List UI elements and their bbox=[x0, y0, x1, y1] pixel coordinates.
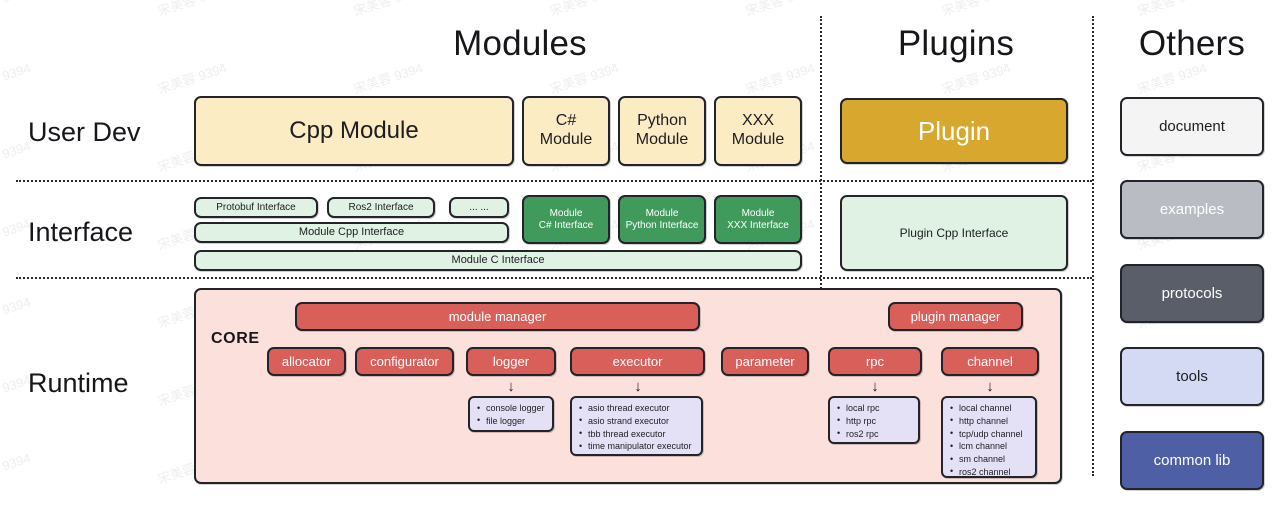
runtime-box-channel[interactable]: channel bbox=[941, 347, 1039, 376]
interface-box-module-csharp-interface[interactable]: Module C# Interface bbox=[522, 195, 610, 244]
others-box-document[interactable]: document bbox=[1120, 97, 1264, 156]
runtime-box-allocator[interactable]: allocator bbox=[267, 347, 346, 376]
plugin-box[interactable]: Plugin bbox=[840, 98, 1068, 164]
arrow-down-logger-icon: ↓ bbox=[504, 379, 518, 394]
runtime-sublist-logger: console loggerfile logger bbox=[468, 396, 554, 432]
interface-box-more-interface[interactable]: ... ... bbox=[449, 197, 509, 218]
executor-children-list: asio thread executorasio strand executor… bbox=[572, 398, 696, 457]
list-item: ros2 channel bbox=[959, 466, 1023, 479]
interface-box-ros2-interface[interactable]: Ros2 Interface bbox=[327, 197, 435, 218]
list-item: sm channel bbox=[959, 453, 1023, 466]
list-item: http channel bbox=[959, 415, 1023, 428]
runtime-box-module-manager[interactable]: module manager bbox=[295, 302, 700, 331]
module-box-python-module[interactable]: Python Module bbox=[618, 96, 706, 166]
rpc-children-list: local rpchttp rpcros2 rpc bbox=[830, 398, 884, 444]
interface-box-module-xxx-interface[interactable]: Module XXX Interface bbox=[714, 195, 802, 244]
list-item: tcp/udp channel bbox=[959, 428, 1023, 441]
list-item: console logger bbox=[486, 402, 545, 415]
interface-box-plugin-cpp-interface[interactable]: Plugin Cpp Interface bbox=[840, 195, 1068, 271]
watermark-text: 宋美蓉 9394 bbox=[351, 0, 425, 20]
channel-children-list: local channelhttp channeltcp/udp channel… bbox=[943, 398, 1027, 483]
row-label-runtime: Runtime bbox=[28, 368, 129, 399]
divider-interface-runtime bbox=[16, 277, 1092, 279]
interface-box-module-c-interface[interactable]: Module C Interface bbox=[194, 250, 802, 271]
core-label: CORE bbox=[211, 330, 260, 348]
list-item: tbb thread executor bbox=[588, 428, 692, 441]
runtime-sublist-executor: asio thread executorasio strand executor… bbox=[570, 396, 703, 456]
runtime-box-configurator[interactable]: configurator bbox=[355, 347, 454, 376]
others-box-protocols[interactable]: protocols bbox=[1120, 264, 1264, 323]
runtime-box-plugin-manager[interactable]: plugin manager bbox=[888, 302, 1023, 331]
watermark-text: 宋美蓉 9394 bbox=[547, 0, 621, 20]
others-box-common-lib[interactable]: common lib bbox=[1120, 431, 1264, 490]
arrow-down-channel-icon: ↓ bbox=[983, 379, 997, 394]
row-label-interface: Interface bbox=[28, 217, 133, 248]
interface-box-protobuf-interface[interactable]: Protobuf Interface bbox=[194, 197, 318, 218]
watermark-text: 宋美蓉 9394 bbox=[155, 0, 229, 20]
divider-plugins-others bbox=[1092, 16, 1094, 476]
watermark-text: 宋美蓉 9394 bbox=[0, 0, 33, 20]
list-item: time manipulator executor bbox=[588, 440, 692, 453]
column-header-others: Others bbox=[1042, 24, 1280, 64]
architecture-diagram: 宋美蓉 9394宋美蓉 9394宋美蓉 9394宋美蓉 9394宋美蓉 9394… bbox=[0, 0, 1280, 519]
runtime-sublist-rpc: local rpchttp rpcros2 rpc bbox=[828, 396, 920, 444]
runtime-box-rpc[interactable]: rpc bbox=[828, 347, 922, 376]
list-item: asio strand executor bbox=[588, 415, 692, 428]
others-box-examples[interactable]: examples bbox=[1120, 180, 1264, 239]
list-item: lcm channel bbox=[959, 440, 1023, 453]
watermark-text: 宋美蓉 9394 bbox=[743, 0, 817, 20]
interface-box-module-python-interface[interactable]: Module Python Interface bbox=[618, 195, 706, 244]
watermark-text: 宋美蓉 9394 bbox=[0, 447, 33, 487]
arrow-down-rpc-icon: ↓ bbox=[868, 379, 882, 394]
list-item: local channel bbox=[959, 402, 1023, 415]
watermark-text: 宋美蓉 9394 bbox=[155, 57, 229, 97]
runtime-box-logger[interactable]: logger bbox=[466, 347, 556, 376]
arrow-down-executor-icon: ↓ bbox=[631, 379, 645, 394]
watermark-text: 宋美蓉 9394 bbox=[1135, 0, 1209, 20]
column-header-modules: Modules bbox=[370, 24, 670, 64]
list-item: local rpc bbox=[846, 402, 880, 415]
list-item: ros2 rpc bbox=[846, 428, 880, 441]
list-item: http rpc bbox=[846, 415, 880, 428]
runtime-sublist-channel: local channelhttp channeltcp/udp channel… bbox=[941, 396, 1037, 478]
row-label-user-dev: User Dev bbox=[28, 117, 141, 148]
list-item: file logger bbox=[486, 415, 545, 428]
logger-children-list: console loggerfile logger bbox=[470, 398, 549, 432]
module-box-cpp-module[interactable]: Cpp Module bbox=[194, 96, 514, 166]
interface-box-module-cpp-interface[interactable]: Module Cpp Interface bbox=[194, 222, 509, 243]
module-box-xxx-module[interactable]: XXX Module bbox=[714, 96, 802, 166]
watermark-text: 宋美蓉 9394 bbox=[0, 291, 33, 331]
watermark-text: 宋美蓉 9394 bbox=[0, 57, 33, 97]
runtime-box-parameter[interactable]: parameter bbox=[721, 347, 809, 376]
runtime-box-executor[interactable]: executor bbox=[570, 347, 705, 376]
others-box-tools[interactable]: tools bbox=[1120, 347, 1264, 406]
module-box-csharp-module[interactable]: C# Module bbox=[522, 96, 610, 166]
list-item: asio thread executor bbox=[588, 402, 692, 415]
watermark-text: 宋美蓉 9394 bbox=[939, 0, 1013, 20]
divider-userdev-interface bbox=[16, 180, 1092, 182]
